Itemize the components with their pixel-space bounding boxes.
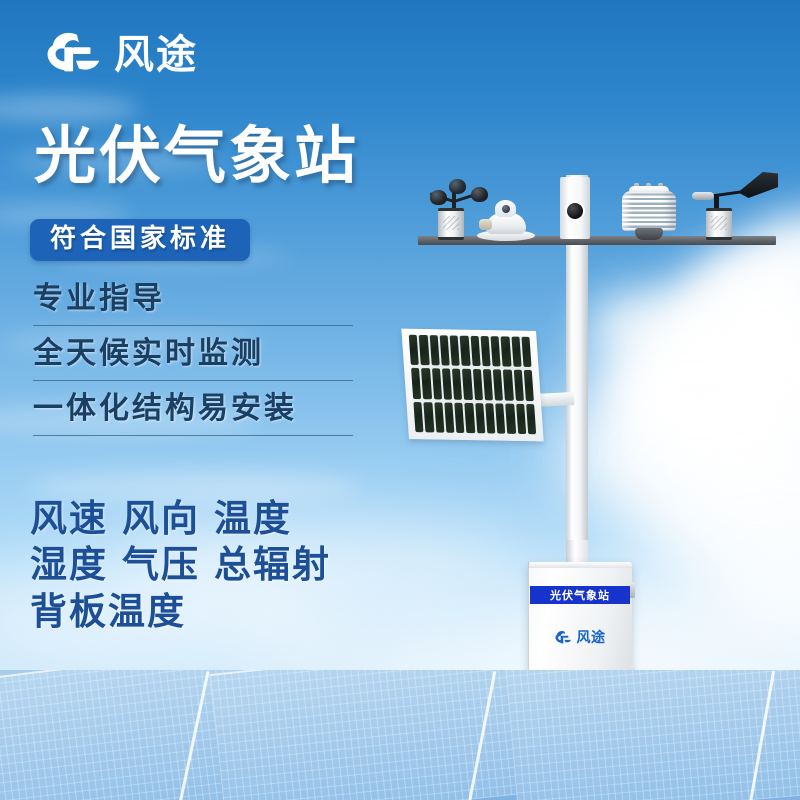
cabinet-banner-label: 光伏气象站 bbox=[550, 590, 610, 601]
parameter-item: 风速 bbox=[30, 496, 108, 540]
fengtu-cloud-g-logo-icon bbox=[555, 630, 574, 646]
cabinet-lid bbox=[528, 562, 632, 568]
parameter-row: 湿度气压总辐射 bbox=[30, 541, 331, 587]
feature-list: 专业指导 全天候实时监测 一体化结构易安装 bbox=[33, 282, 353, 447]
feature-divider bbox=[33, 325, 353, 326]
solar-panel bbox=[401, 329, 543, 442]
feature-item: 一体化结构易安装 bbox=[33, 392, 353, 435]
radiation-shield-sensor bbox=[620, 183, 678, 241]
parameter-row: 风速风向温度 bbox=[30, 495, 331, 541]
cabinet-logo-wordmark: 风途 bbox=[577, 631, 606, 645]
feature-item: 全天候实时监测 bbox=[33, 337, 353, 380]
parameter-row: 背板温度 bbox=[30, 588, 331, 634]
feature-item: 专业指导 bbox=[33, 282, 353, 325]
wind-vane-mount bbox=[706, 208, 732, 240]
parameter-item: 总辐射 bbox=[214, 542, 331, 586]
solar-farm-background bbox=[0, 670, 800, 800]
brand-logo: 风途 bbox=[46, 30, 198, 80]
standard-compliance-badge: 符合国家标准 bbox=[30, 219, 250, 261]
parameter-item: 湿度 bbox=[30, 542, 108, 586]
brand-wordmark: 风途 bbox=[114, 35, 198, 75]
measured-parameter-list: 风速风向温度 湿度气压总辐射 背板温度 bbox=[30, 495, 331, 634]
feature-divider bbox=[33, 435, 353, 436]
poster-canvas: 光伏气象站 风途 bbox=[0, 0, 800, 800]
cabinet-banner: 光伏气象站 bbox=[530, 586, 630, 604]
feature-divider bbox=[33, 380, 353, 381]
fengtu-cloud-g-logo-icon bbox=[46, 30, 104, 80]
camera-lens-icon bbox=[567, 203, 583, 219]
parameter-item: 气压 bbox=[122, 542, 200, 586]
cabinet-logo: 风途 bbox=[528, 630, 632, 646]
badge-label: 符合国家标准 bbox=[50, 226, 230, 252]
pyranometer-sensor bbox=[477, 195, 535, 241]
anemometer-mount bbox=[438, 208, 464, 240]
parameter-item: 背板温度 bbox=[30, 589, 186, 633]
parameter-item: 温度 bbox=[214, 496, 292, 540]
parameter-item: 风向 bbox=[122, 496, 200, 540]
wind-vane-sensor bbox=[692, 172, 776, 238]
page-title: 光伏气象站 bbox=[34, 122, 359, 190]
